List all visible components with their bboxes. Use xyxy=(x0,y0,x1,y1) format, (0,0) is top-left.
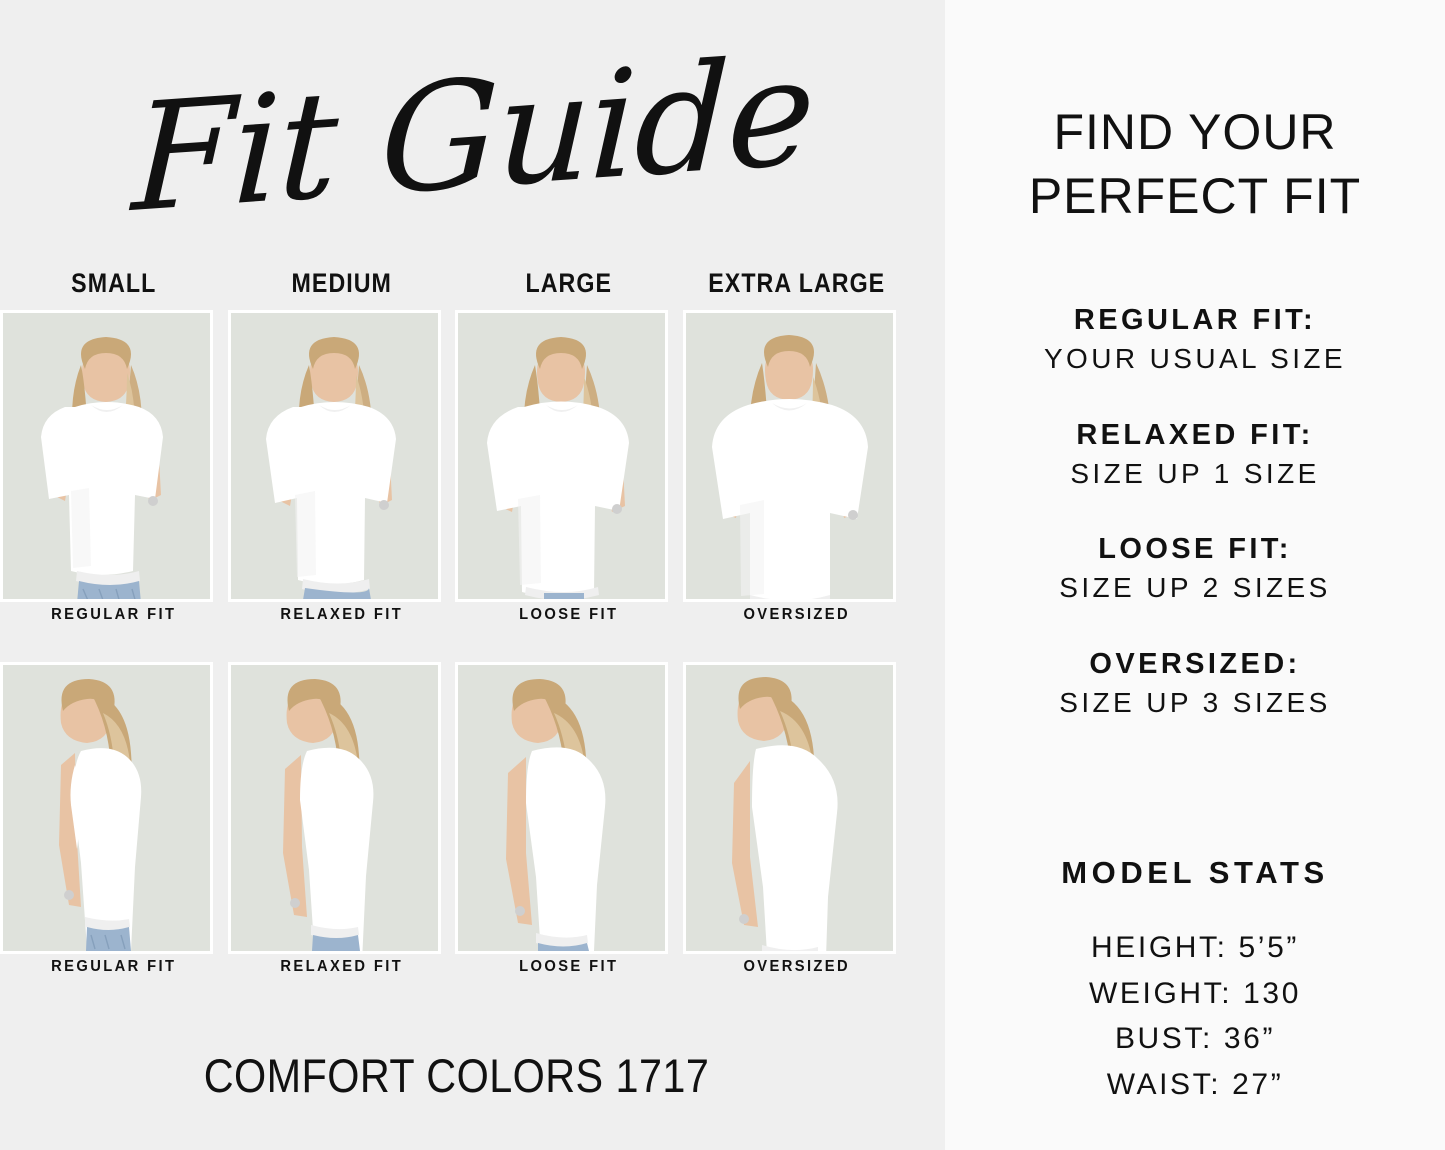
model-stats-title: MODEL STATS xyxy=(945,855,1445,891)
model-stat-waist: WAIST: 27” xyxy=(945,1062,1445,1108)
photo-cell-side-extra-large xyxy=(683,662,911,954)
model-photo-front-small xyxy=(3,313,210,599)
fit-definition-oversized: OVERSIZED: SIZE UP 3 SIZES xyxy=(945,644,1445,723)
product-footer: COMFORT COLORS 1717 xyxy=(55,1048,858,1103)
page-title: Fit Guide xyxy=(130,37,815,233)
title-block: Fit Guide xyxy=(0,0,945,262)
model-photo-side-medium xyxy=(231,665,438,951)
fit-label-oversized: OVERSIZED: xyxy=(945,644,1445,684)
heading-line-2: PERFECT FIT xyxy=(945,164,1445,228)
model-photo-side-small xyxy=(3,665,210,951)
caption-row-front: REGULAR FIT RELAXED FIT LOOSE FIT OVERSI… xyxy=(0,606,913,624)
model-photo-side-extra-large xyxy=(686,665,893,951)
photo-frame xyxy=(455,662,668,954)
model-stat-height: HEIGHT: 5’5” xyxy=(945,925,1445,971)
fit-value-oversized: SIZE UP 3 SIZES xyxy=(945,684,1445,723)
photo-frame xyxy=(228,310,441,602)
photo-frame xyxy=(0,662,213,954)
fit-definitions-list: REGULAR FIT: YOUR USUAL SIZE RELAXED FIT… xyxy=(945,300,1445,759)
fit-value-loose: SIZE UP 2 SIZES xyxy=(945,569,1445,608)
fit-value-regular: YOUR USUAL SIZE xyxy=(945,340,1445,379)
caption-front-loose: LOOSE FIT xyxy=(464,606,673,624)
model-stat-weight: WEIGHT: 130 xyxy=(945,971,1445,1017)
fit-guide-sheet: Fit Guide SMALL MEDIUM LARGE EXTRA LARGE xyxy=(0,0,1445,1150)
photo-cell-side-small xyxy=(0,662,228,954)
caption-front-regular: REGULAR FIT xyxy=(9,606,218,624)
caption-side-oversized: OVERSIZED xyxy=(692,958,901,976)
model-stat-bust: BUST: 36” xyxy=(945,1016,1445,1062)
right-panel-heading: FIND YOUR PERFECT FIT xyxy=(945,100,1445,228)
fit-value-relaxed: SIZE UP 1 SIZE xyxy=(945,455,1445,494)
photo-cell-front-extra-large xyxy=(683,310,911,602)
photo-cell-side-medium xyxy=(228,662,456,954)
fit-label-regular: REGULAR FIT: xyxy=(945,300,1445,340)
photo-cell-front-large xyxy=(455,310,683,602)
caption-side-relaxed: RELAXED FIT xyxy=(237,958,446,976)
photo-frame xyxy=(0,310,213,602)
photo-cell-front-medium xyxy=(228,310,456,602)
photo-frame xyxy=(683,310,896,602)
photo-frame xyxy=(683,662,896,954)
photo-cell-side-large xyxy=(455,662,683,954)
model-photo-front-extra-large xyxy=(686,313,893,599)
fit-definition-regular: REGULAR FIT: YOUR USUAL SIZE xyxy=(945,300,1445,379)
model-stats-section: MODEL STATS HEIGHT: 5’5” WEIGHT: 130 BUS… xyxy=(945,855,1445,1107)
size-label-large: LARGE xyxy=(471,268,667,299)
fit-definition-loose: LOOSE FIT: SIZE UP 2 SIZES xyxy=(945,529,1445,608)
photo-cell-front-small xyxy=(0,310,228,602)
model-photo-front-large xyxy=(458,313,665,599)
model-photo-front-medium xyxy=(231,313,438,599)
size-label-medium: MEDIUM xyxy=(243,268,439,299)
size-label-extra-large: EXTRA LARGE xyxy=(698,268,894,299)
right-panel: FIND YOUR PERFECT FIT REGULAR FIT: YOUR … xyxy=(945,0,1445,1150)
fit-label-loose: LOOSE FIT: xyxy=(945,529,1445,569)
fit-label-relaxed: RELAXED FIT: xyxy=(945,415,1445,455)
caption-side-loose: LOOSE FIT xyxy=(464,958,673,976)
caption-front-relaxed: RELAXED FIT xyxy=(237,606,446,624)
caption-front-oversized: OVERSIZED xyxy=(692,606,901,624)
heading-line-1: FIND YOUR xyxy=(945,100,1445,164)
photo-frame xyxy=(228,662,441,954)
caption-row-side: REGULAR FIT RELAXED FIT LOOSE FIT OVERSI… xyxy=(0,958,913,976)
caption-side-regular: REGULAR FIT xyxy=(9,958,218,976)
photo-row-side xyxy=(0,662,913,954)
model-photo-side-large xyxy=(458,665,665,951)
fit-definition-relaxed: RELAXED FIT: SIZE UP 1 SIZE xyxy=(945,415,1445,494)
photo-row-front xyxy=(0,310,913,602)
left-panel: Fit Guide SMALL MEDIUM LARGE EXTRA LARGE xyxy=(0,0,945,1150)
size-label-small: SMALL xyxy=(16,268,212,299)
photo-frame xyxy=(455,310,668,602)
size-header-row: SMALL MEDIUM LARGE EXTRA LARGE xyxy=(0,268,910,299)
